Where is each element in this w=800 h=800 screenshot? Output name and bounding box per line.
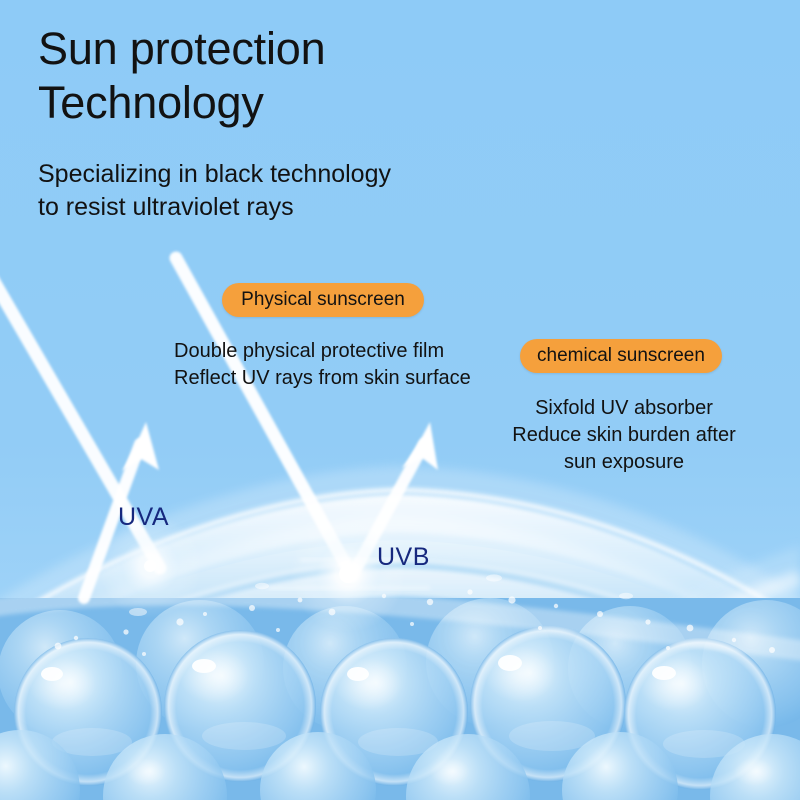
ray-label-uva: UVA — [118, 503, 169, 532]
micro-bubbles — [55, 574, 775, 656]
badge-chemical-label: chemical sunscreen — [537, 345, 705, 367]
badge-chemical-sunscreen[interactable]: chemical sunscreen — [520, 339, 722, 373]
description-physical-sunscreen: Double physical protective film Reflect … — [174, 338, 471, 392]
description-chemical-sunscreen: Sixfold UV absorber Reduce skin burden a… — [504, 395, 744, 476]
ray-label-uvb: UVB — [377, 543, 430, 572]
bubble-layer — [0, 586, 800, 800]
page-subtitle: Specializing in black technology to resi… — [38, 158, 391, 224]
page-title: Sun protection Technology — [38, 22, 325, 130]
badge-physical-sunscreen[interactable]: Physical sunscreen — [222, 283, 424, 317]
badge-physical-label: Physical sunscreen — [241, 289, 405, 311]
reflected-arrow-left — [122, 422, 159, 471]
sunscreen-infographic-poster: Sun protection Technology Specializing i… — [0, 0, 800, 800]
reflected-arrow-right — [402, 422, 438, 470]
